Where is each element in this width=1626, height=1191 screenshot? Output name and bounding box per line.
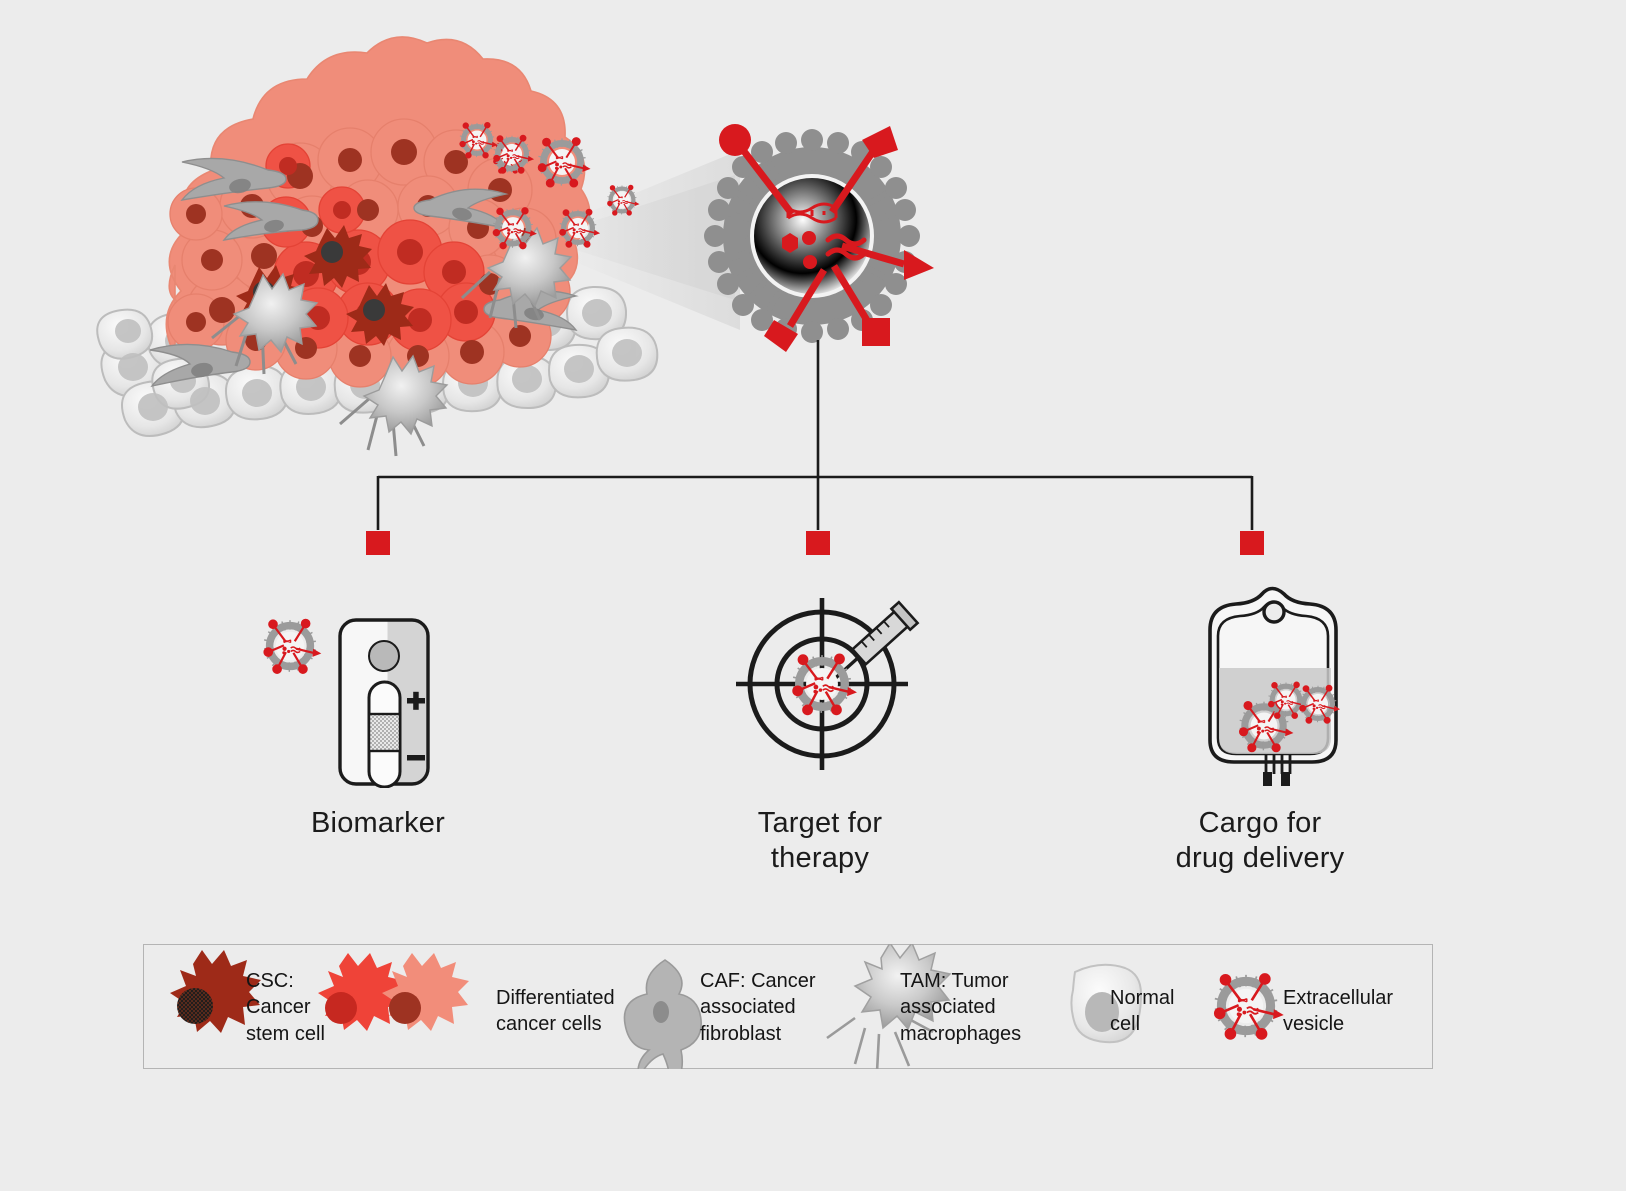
minus-symbol [407,755,425,761]
legend-label-csc: CSC: Cancer stem cell [246,968,366,1047]
branch-label-cargo: Cargo for drug delivery [1140,806,1380,877]
lateral-flow-test-icon [248,588,498,788]
branch-marker-target [806,531,830,555]
legend-label-ev: Extracellular vesicle [1283,985,1433,1038]
legend-label-diff-cells: Differentiated cancer cells [496,985,656,1038]
legend-label-tam: TAM: Tumor associated macrophages [900,968,1060,1047]
differentiated-cancer-cell-glyph [382,953,469,1031]
extracellular-vesicle-glyph [1215,974,1284,1038]
crosshair-target-with-syringe-icon [730,586,940,786]
branch-marker-cargo [1240,531,1264,555]
legend-label-caf: CAF: Cancer associated fibroblast [700,968,840,1047]
iv-infusion-bag-icon [1178,578,1368,793]
legend-label-normal: Normal cell [1110,985,1220,1038]
branch-label-target: Target for therapy [700,806,940,877]
figure-canvas: Biomarker Target for therapy [0,0,1626,1191]
branch-connectors [0,340,1626,560]
branch-marker-biomarker [366,531,390,555]
branch-label-biomarker: Biomarker [258,806,498,841]
